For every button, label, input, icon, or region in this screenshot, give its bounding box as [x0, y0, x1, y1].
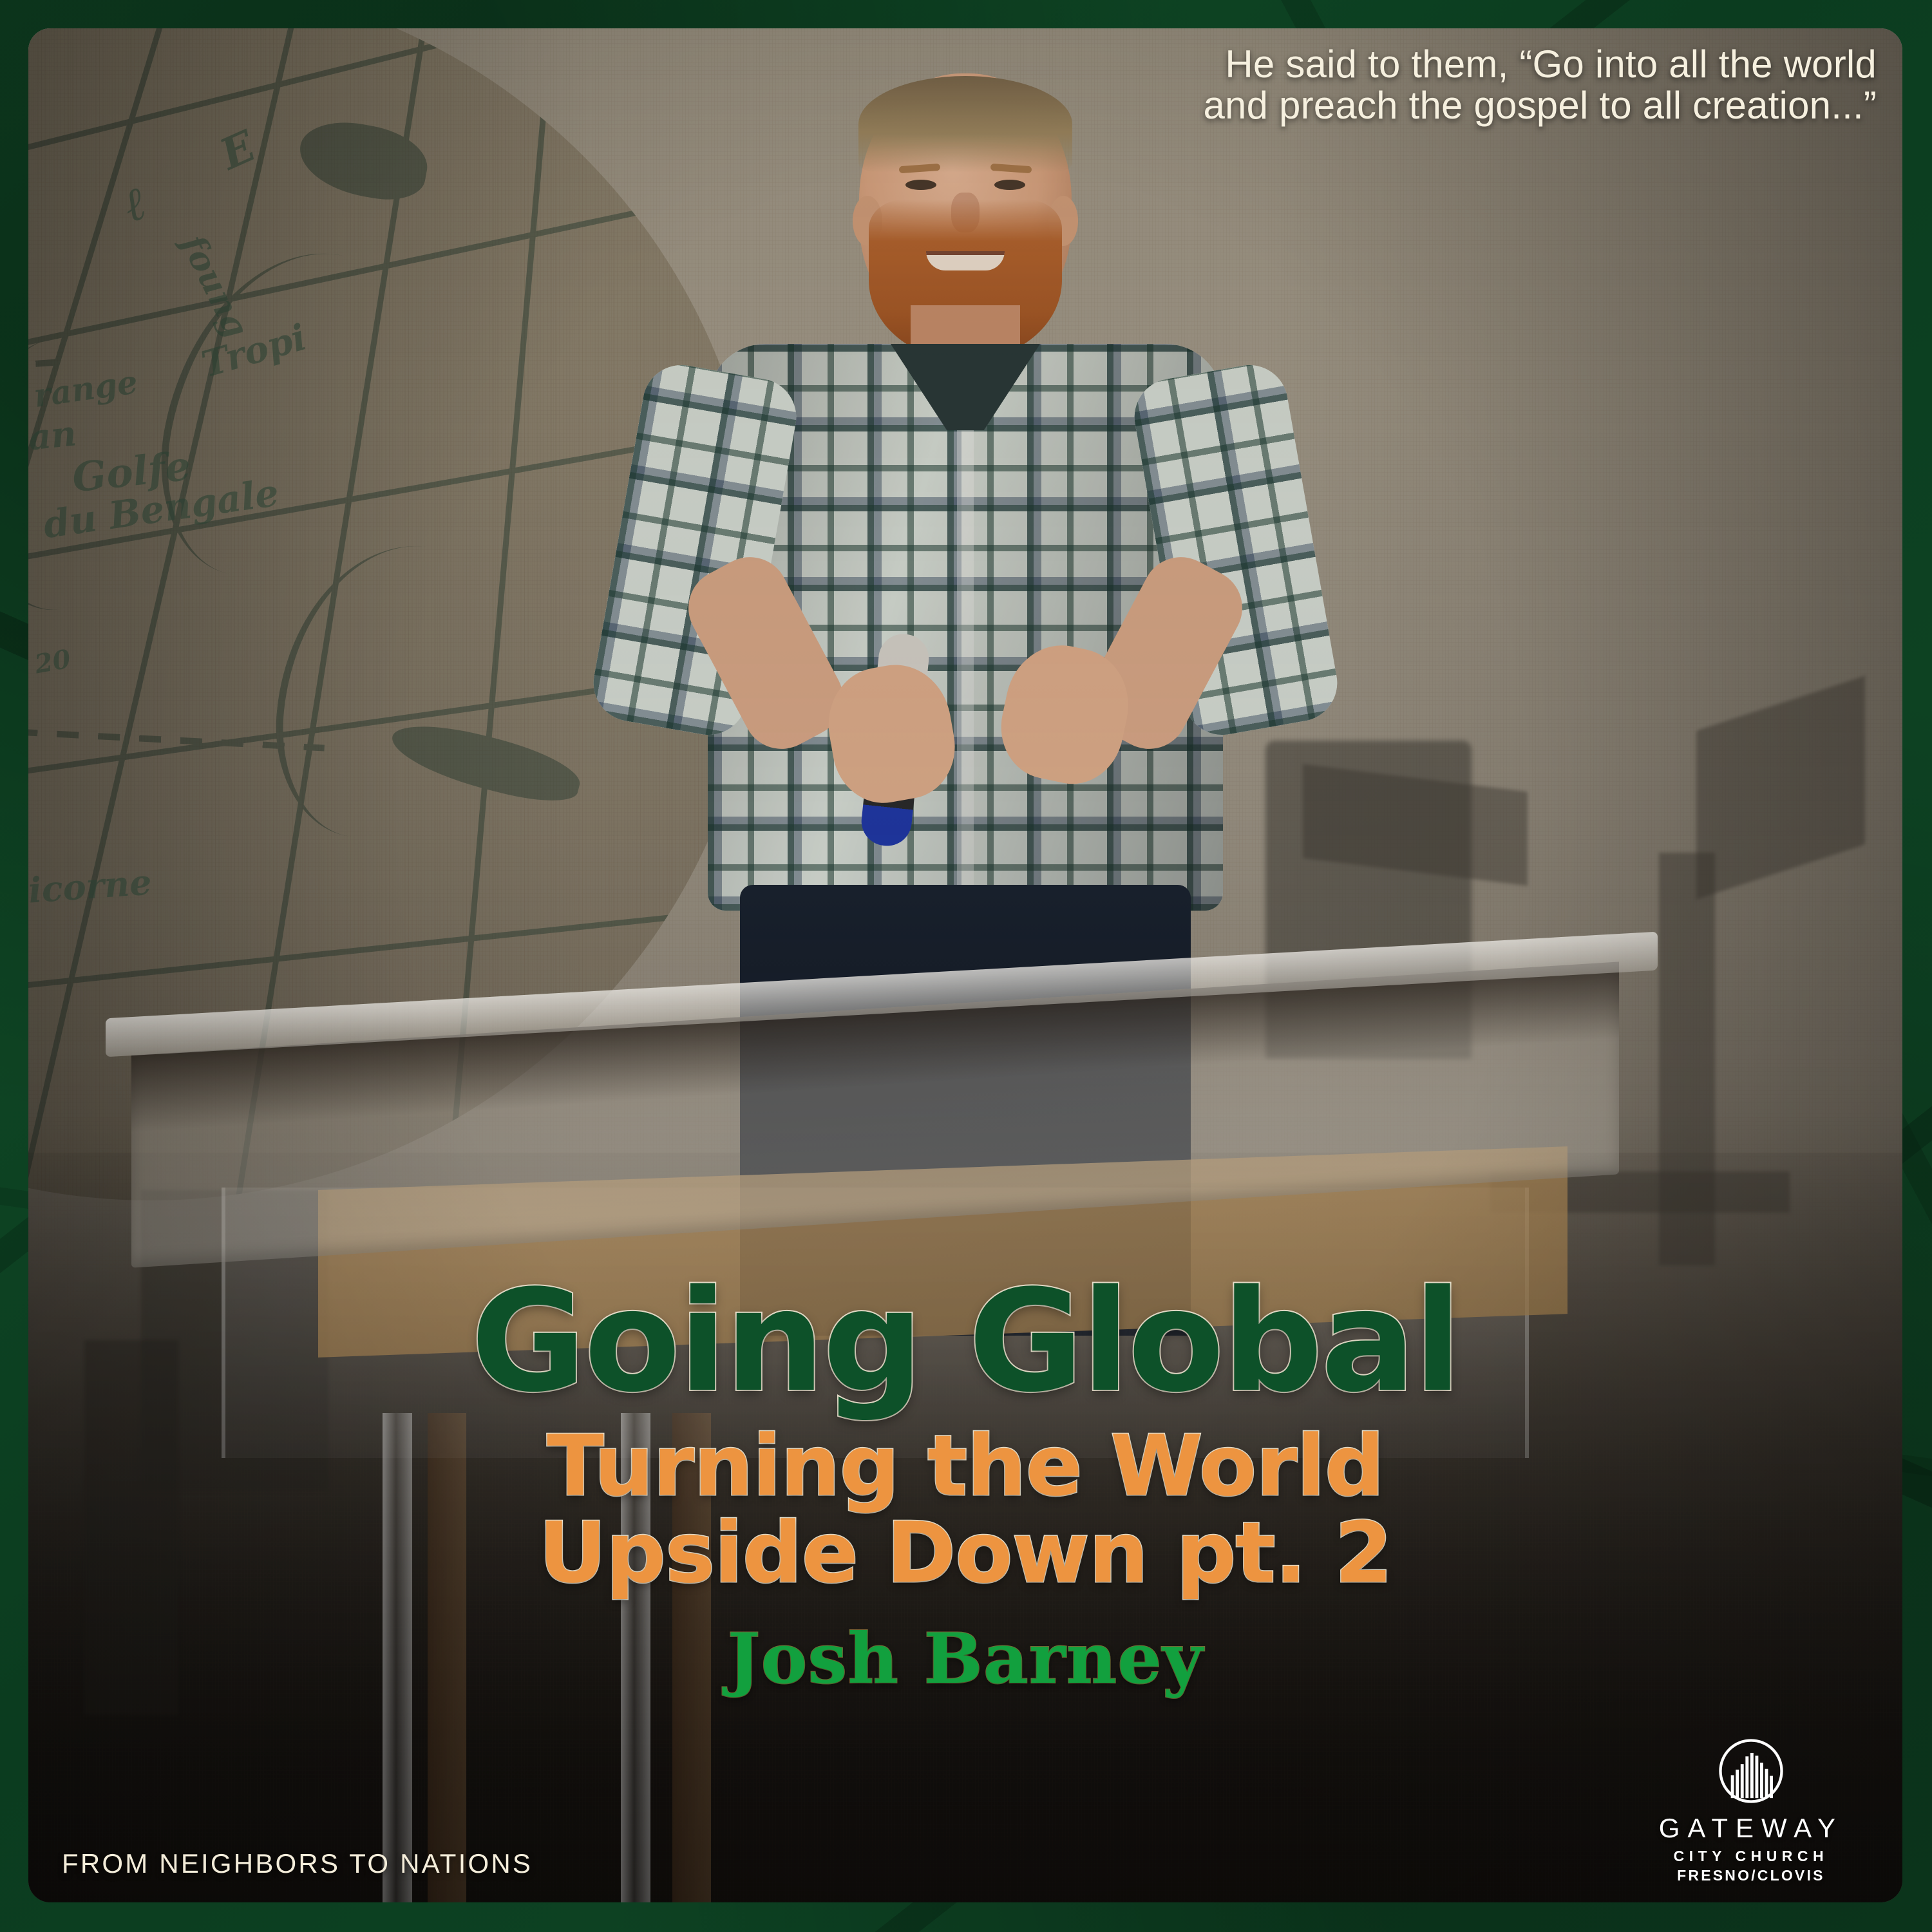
sermon-subtitle-line2: Upside Down pt. 2: [28, 1510, 1902, 1596]
logo-wordmark: GATEWAY: [1659, 1815, 1843, 1842]
series-title: Going Global: [28, 1278, 1902, 1407]
speaker-name: Josh Barney: [28, 1618, 1902, 1700]
sermon-subtitle-line1: Turning the World: [547, 1417, 1384, 1515]
title-block: Going Global Turning the World Upside Do…: [28, 1278, 1902, 1700]
tagline: FROM NEIGHBORS TO NATIONS: [62, 1848, 533, 1879]
photo-panel: EℓfoungTropirangeanGolfedu Bengaleicorne…: [28, 28, 1902, 1902]
logo-subline-1: CITY CHURCH: [1659, 1849, 1843, 1864]
scripture-quote: He said to them, “Go into all the world …: [1203, 44, 1877, 126]
logo-subline-2: FRESNO/CLOVIS: [1659, 1868, 1843, 1883]
sermon-subtitle: Turning the World Upside Down pt. 2: [28, 1423, 1902, 1596]
circle-skyline-icon: [1716, 1736, 1786, 1806]
church-logo: GATEWAY CITY CHURCH FRESNO/CLOVIS: [1659, 1736, 1843, 1883]
sermon-graphic-canvas: EℓfoungTropirangeanGolfedu Bengaleicorne…: [0, 0, 1932, 1932]
